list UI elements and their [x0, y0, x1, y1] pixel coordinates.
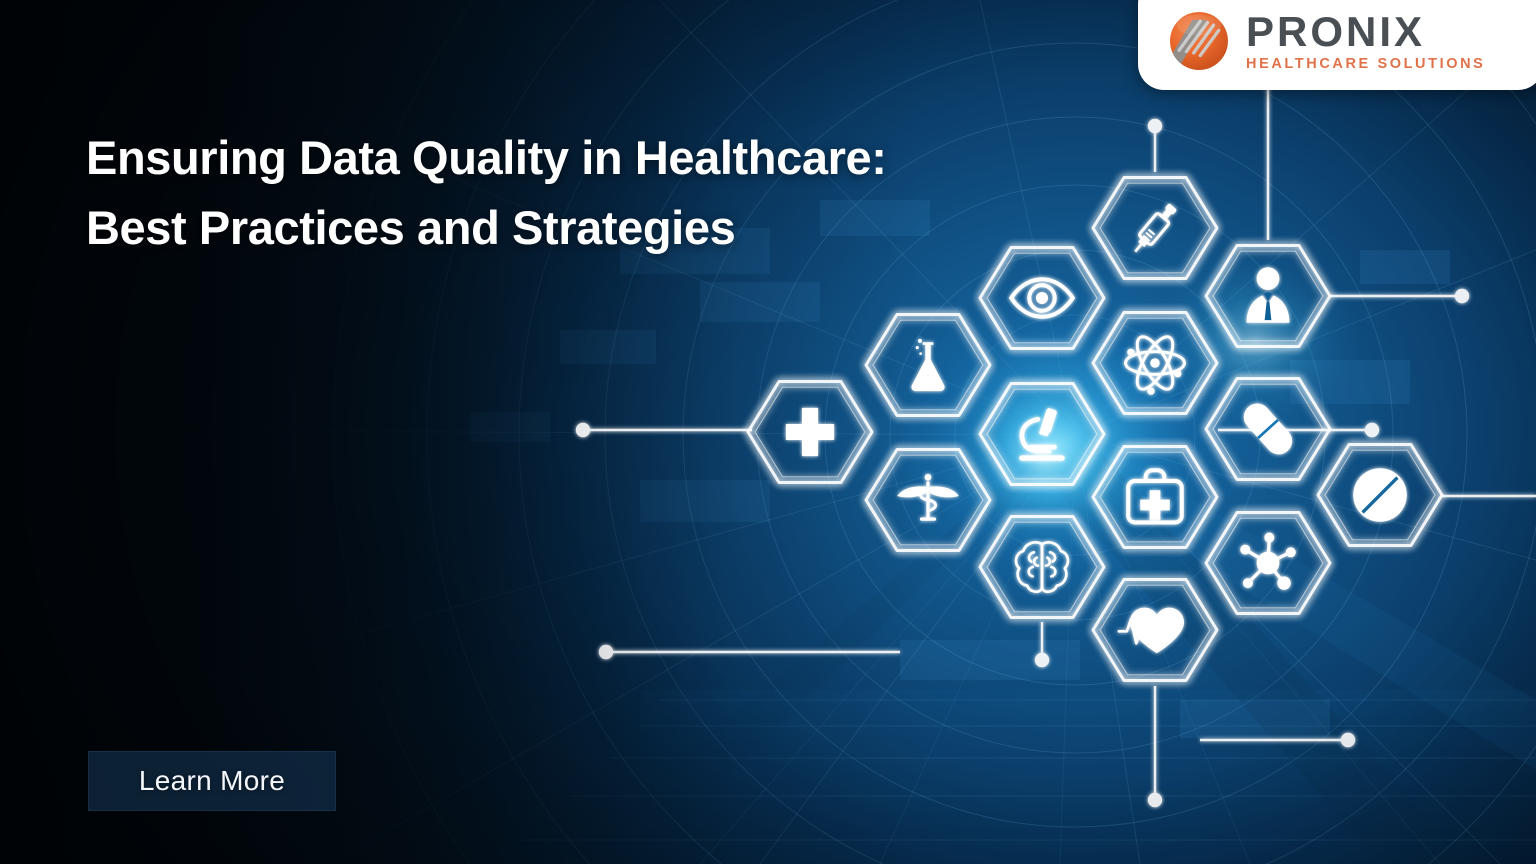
- logo-tagline: HEALTHCARE SOLUTIONS: [1246, 56, 1485, 72]
- marketing-banner: Ensuring Data Quality in Healthcare: Bes…: [0, 0, 1536, 864]
- brand-logo[interactable]: PRONIX HEALTHCARE SOLUTIONS: [1138, 0, 1536, 90]
- logo-wordmark: PRONIX: [1246, 12, 1485, 52]
- learn-more-button[interactable]: Learn More: [88, 751, 336, 811]
- page-title: Ensuring Data Quality in Healthcare: Bes…: [86, 123, 1086, 262]
- pronix-sphere-icon: [1166, 8, 1232, 74]
